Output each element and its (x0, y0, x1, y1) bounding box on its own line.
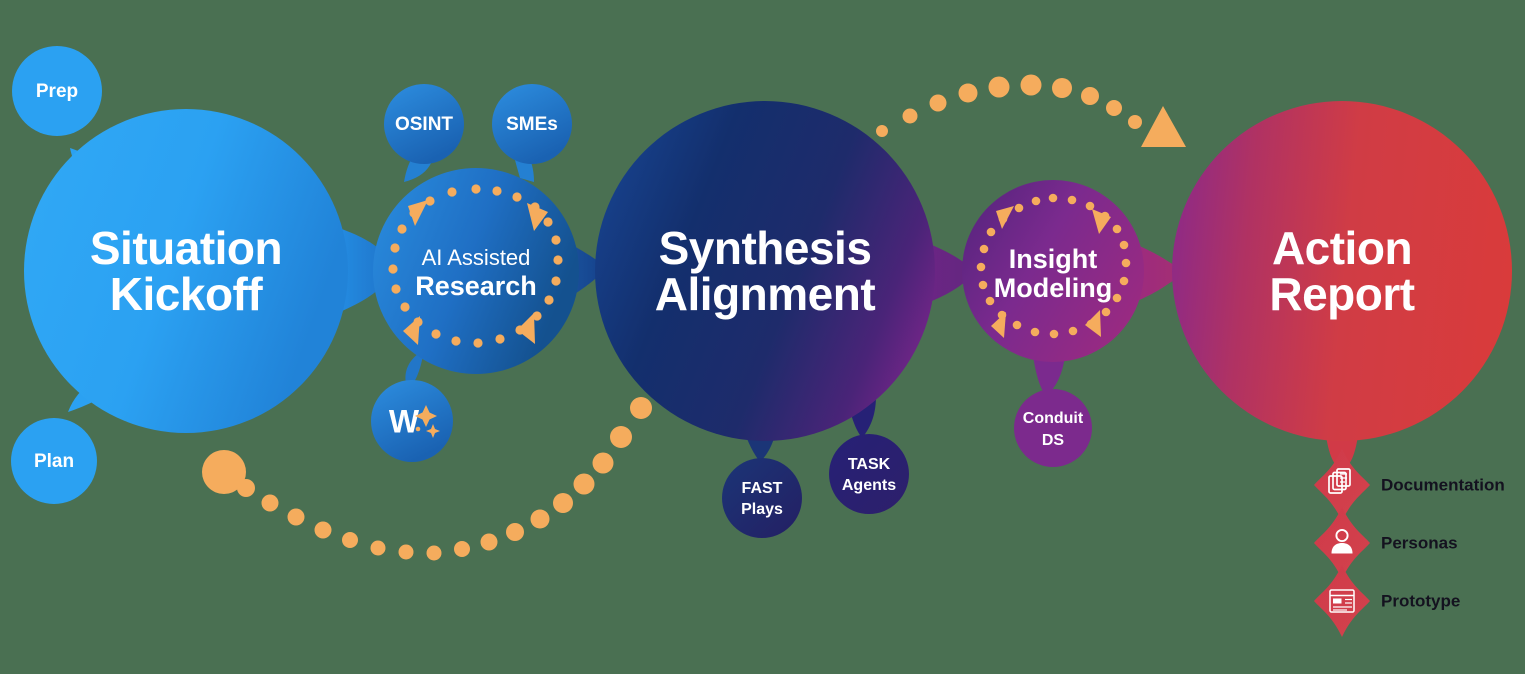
process-flow-diagram: Prep Plan Situation Kickoff OSINT SMEs W (0, 0, 1525, 674)
deliverable-personas[interactable]: Personas (1314, 507, 1458, 579)
phase-title-insight-modeling-line1: Insight (1009, 244, 1098, 274)
phase-ai-assisted-research[interactable]: OSINT SMEs W (371, 84, 579, 462)
satellite-w-sparkle-label: W (389, 403, 420, 439)
deliverable-badge-prototype (1314, 565, 1370, 637)
deliverables-list: Documentation Personas Prototype (1314, 449, 1505, 637)
satellite-conduit-ds-label-line2: DS (1042, 432, 1065, 449)
satellite-task-agents[interactable] (829, 434, 909, 514)
deliverable-prototype-label: Prototype (1381, 591, 1460, 610)
phase-title-synthesis-alignment-line1: Synthesis (659, 222, 872, 274)
satellite-fast-plays-label-line1: FAST (742, 480, 783, 497)
phase-title-action-report-line1: Action (1272, 222, 1412, 274)
diagram-canvas: Prep Plan Situation Kickoff OSINT SMEs W (0, 0, 1525, 674)
phase-situation-kickoff[interactable]: Prep Plan Situation Kickoff (11, 46, 348, 504)
satellite-task-agents-label-line1: TASK (848, 456, 891, 473)
satellite-fast-plays[interactable] (722, 458, 802, 538)
satellite-prep-label: Prep (36, 81, 78, 102)
satellite-smes-label: SMEs (506, 114, 558, 135)
phase-title-ai-assisted-research-line1: AI Assisted (422, 245, 531, 270)
phase-title-situation-kickoff-line1: Situation (90, 222, 282, 274)
phase-insight-modeling[interactable]: Conduit DS (962, 180, 1144, 467)
phase-synthesis-alignment[interactable]: FAST Plays TASK Agents Synthesis Alignme… (595, 101, 935, 538)
satellite-conduit-ds[interactable] (1014, 389, 1092, 467)
phase-title-insight-modeling-line2: Modeling (994, 273, 1112, 303)
satellite-plan-label: Plan (34, 451, 74, 472)
phase-title-action-report-line2: Report (1269, 268, 1414, 320)
phase-action-report[interactable]: Action Report (1172, 101, 1512, 470)
satellite-task-agents-label-line2: Agents (842, 477, 896, 494)
satellite-fast-plays-label-line2: Plays (741, 501, 783, 518)
top-arc-arrowhead (1141, 106, 1186, 147)
deliverable-documentation-label: Documentation (1381, 475, 1505, 494)
deliverable-personas-label: Personas (1381, 533, 1458, 552)
top-flow-arc (876, 75, 1186, 148)
satellite-osint-label: OSINT (395, 114, 453, 135)
phase-title-synthesis-alignment-line2: Alignment (655, 268, 876, 320)
phase-title-situation-kickoff-line2: Kickoff (110, 268, 264, 320)
satellite-conduit-ds-label-line1: Conduit (1023, 410, 1084, 427)
phase-title-ai-assisted-research-line2: Research (415, 271, 537, 301)
deliverable-prototype[interactable]: Prototype (1314, 565, 1460, 637)
